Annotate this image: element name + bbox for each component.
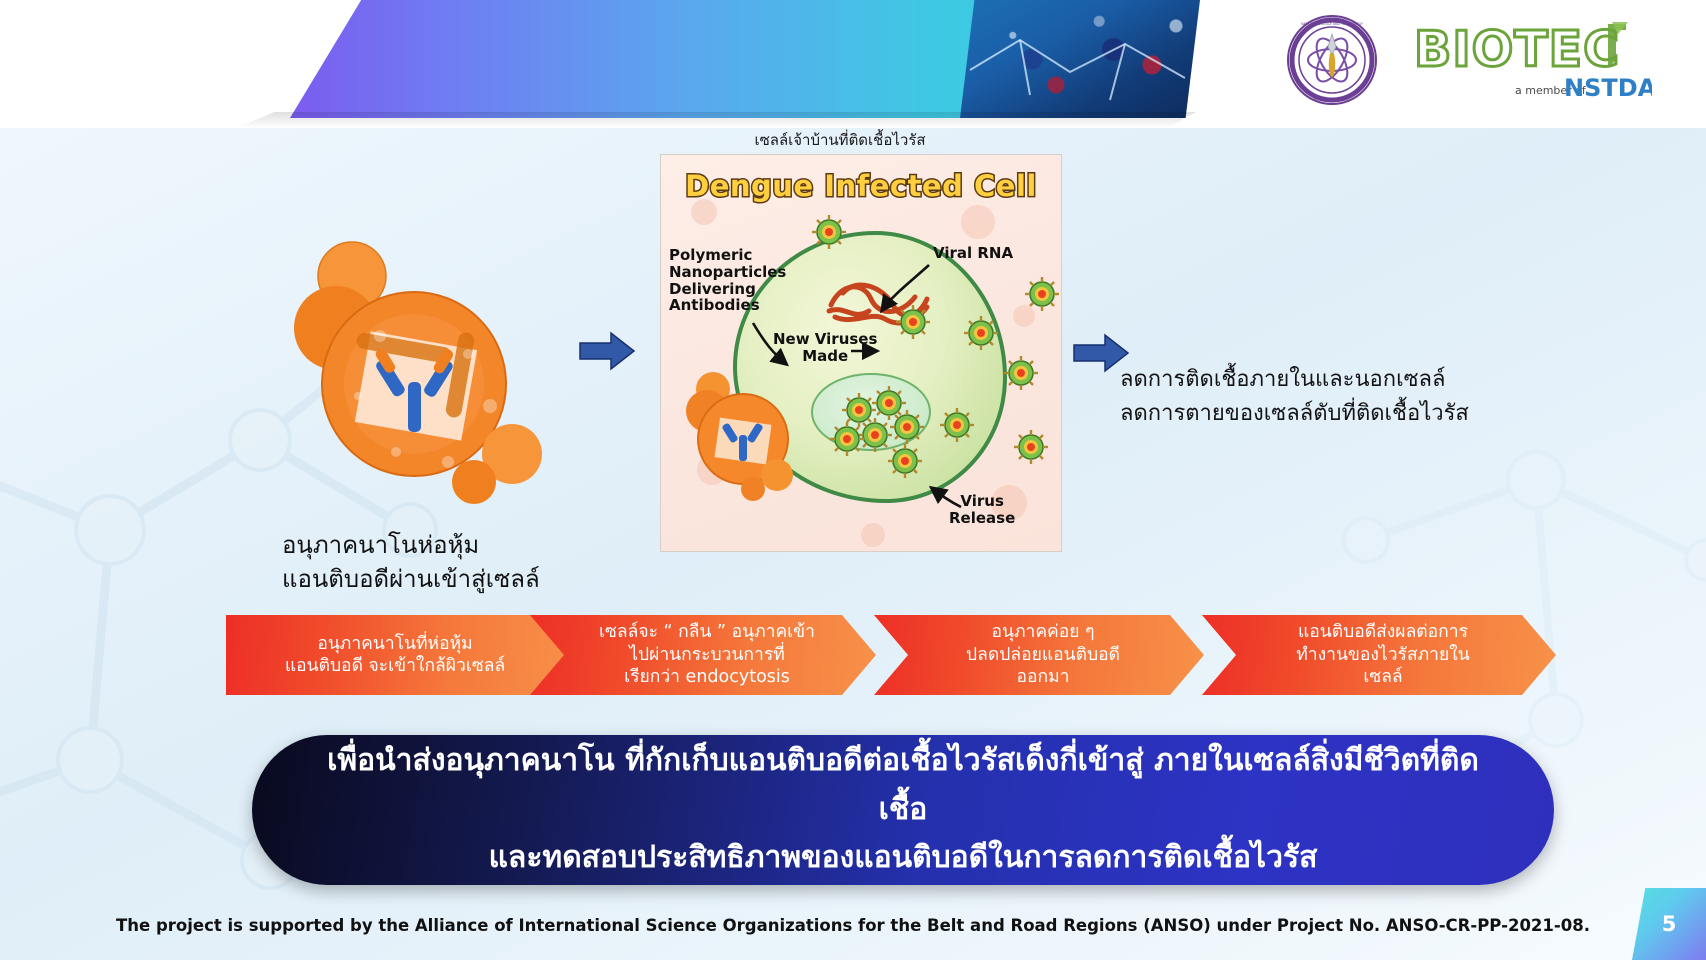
nanoparticle-caption-line-2: แอนติบอดีผ่านเข้าสู่เซลล์: [282, 562, 612, 596]
statement-line-1: เพื่อนำส่งอนุภาคนาโน ที่กักเก็บแอนติบอดี…: [306, 737, 1500, 834]
dengue-infected-cell-figure: Dengue Infected Cell Polymeric Nanoparti…: [660, 154, 1062, 552]
header-molecule-photo: [960, 0, 1200, 118]
nanoparticle-antibody-illustration: [284, 236, 552, 536]
process-step-1-line-1: อนุภาคนาโนที่ห่อหุ้ม: [285, 633, 505, 655]
outcome-line-1: ลดการติดเชื้อภายในและนอกเซลล์: [1120, 363, 1540, 397]
process-step-2-line-2: ไปผ่านกระบวนการที่: [599, 644, 815, 666]
virion-particles: [661, 155, 1062, 552]
process-step-3-line-3: ออกมา: [966, 666, 1120, 688]
funding-footnote: The project is supported by the Alliance…: [0, 916, 1706, 935]
host-cell-label: เซลล์เจ้าบ้านที่ติดเชื้อไวรัส: [660, 128, 1020, 152]
process-step-3-line-2: ปลดปล่อยแอนติบอดี: [966, 644, 1120, 666]
slide-header: NATIONAL SCIENCE AND TECHNOLOGY DEVELOPM…: [0, 0, 1706, 128]
outcome-text-block: ลดการติดเชื้อภายในและนอกเซลล์ ลดการตายขอ…: [1120, 363, 1540, 431]
process-step-2-line-3: เรียกว่า endocytosis: [599, 666, 815, 688]
process-step-1[interactable]: อนุภาคนาโนที่ห่อหุ้ม แอนติบอดี จะเข้าใกล…: [226, 615, 578, 695]
outcome-line-2: ลดการตายของเซลล์ตับที่ติดเชื้อไวรัส: [1120, 397, 1540, 431]
process-step-4-line-1: แอนติบอดีส่งผลต่อการ: [1296, 621, 1470, 643]
process-step-4-line-2: ทำงานของไวรัสภายใน: [1296, 644, 1470, 666]
process-step-2-line-1: เซลล์จะ “ กลืน ” อนุภาคเข้า: [599, 621, 815, 643]
slide-root: NATIONAL SCIENCE AND TECHNOLOGY DEVELOPM…: [0, 0, 1706, 960]
nstda-seal-icon: NATIONAL SCIENCE AND TECHNOLOGY DEVELOPM…: [1286, 14, 1378, 106]
header-band-shadow: [236, 112, 1196, 128]
process-step-3-line-1: อนุภาคค่อย ๆ: [966, 621, 1120, 643]
key-statement-banner: เพื่อนำส่งอนุภาคนาโน ที่กักเก็บแอนติบอดี…: [252, 735, 1554, 885]
statement-line-2: และทดสอบประสิทธิภาพของแอนติบอดีในการลดกา…: [489, 834, 1318, 883]
process-chevron-row: อนุภาคนาโนที่ห่อหุ้ม แอนติบอดี จะเข้าใกล…: [226, 615, 1556, 695]
nstda-wordmark-text: NSTDA: [1564, 74, 1652, 102]
biotec-logo: BIOTEC a member of NSTDA: [1412, 16, 1652, 106]
svg-text:NATIONAL SCIENCE AND TECHNOLOG: NATIONAL SCIENCE AND TECHNOLOGY: [1301, 22, 1363, 26]
process-step-2[interactable]: เซลล์จะ “ กลืน ” อนุภาคเข้า ไปผ่านกระบวน…: [530, 615, 876, 695]
process-step-4-line-3: เซลล์: [1296, 666, 1470, 688]
svg-text:BIOTEC: BIOTEC: [1414, 21, 1620, 78]
nanoparticle-caption: อนุภาคนาโนห่อหุ้ม แอนติบอดีผ่านเข้าสู่เซ…: [282, 528, 612, 596]
process-step-4[interactable]: แอนติบอดีส่งผลต่อการ ทำงานของไวรัสภายใน …: [1202, 615, 1556, 695]
nanoparticle-caption-line-1: อนุภาคนาโนห่อหุ้ม: [282, 528, 612, 562]
blue-arrow-left-icon: [578, 330, 636, 372]
process-step-1-line-2: แอนติบอดี จะเข้าใกล้ผิวเซลล์: [285, 655, 505, 677]
process-step-3[interactable]: อนุภาคค่อย ๆ ปลดปล่อยแอนติบอดี ออกมา: [874, 615, 1204, 695]
svg-text:DEVELOPMENT AGENCY: DEVELOPMENT AGENCY: [1313, 98, 1351, 102]
